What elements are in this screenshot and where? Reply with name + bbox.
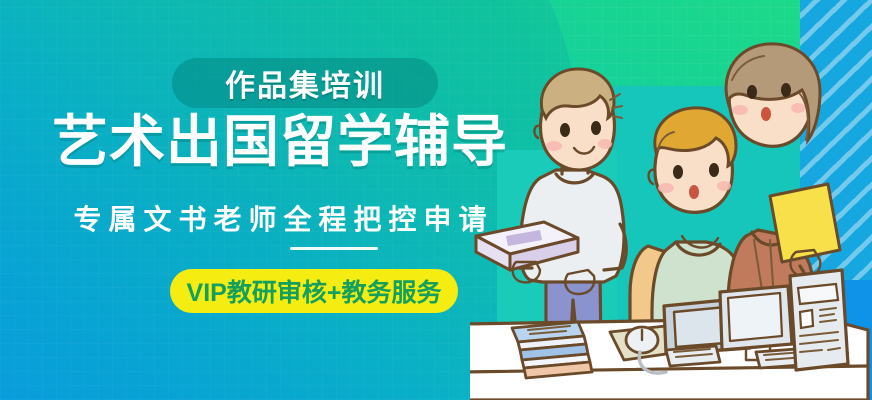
promo-banner: .ln{fill:none;stroke:#6b4a2a;stroke-widt… [0,0,872,400]
page-title: 艺术出国留学辅导 [0,113,560,172]
badge-bottom-label: VIP教研审核+教务服务 [170,269,458,313]
pc-tower [790,270,848,370]
divider-rule [290,247,378,250]
headline-text-block: 作品集培训 艺术出国留学辅导 专属文书老师全程把控申请 VIP教研审核+教务服务 [0,0,560,400]
badge-top-label: 作品集培训 [172,58,438,108]
subheadline: 专属文书老师全程把控申请 [0,198,560,238]
